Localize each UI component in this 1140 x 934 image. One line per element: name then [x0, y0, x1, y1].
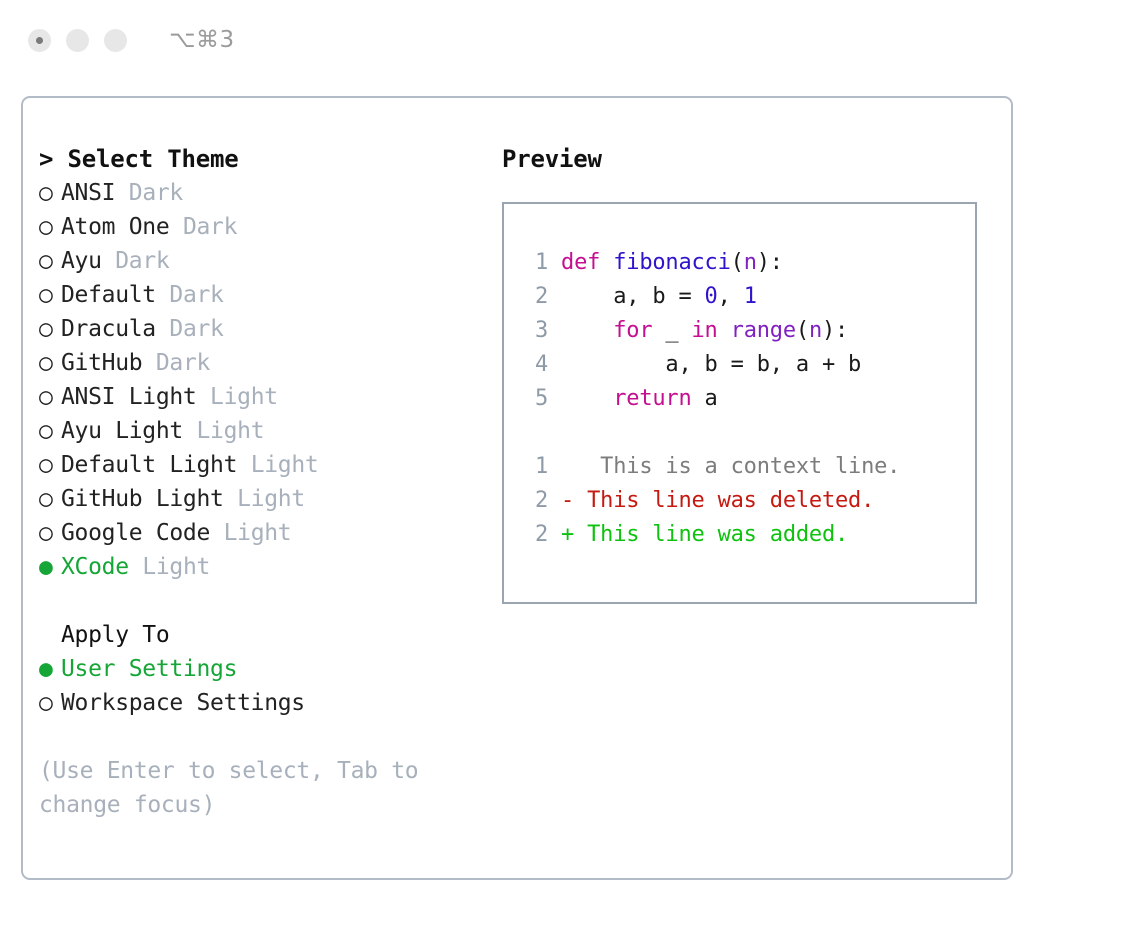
code-token: , — [718, 284, 744, 309]
theme-variant-tag: Light — [142, 554, 210, 580]
diff-sign — [561, 454, 574, 479]
line-number: 5 — [522, 382, 548, 416]
window-title: ⌥⌘3 — [169, 27, 235, 53]
theme-name: Ayu Light — [61, 418, 183, 444]
code-token: ): — [822, 318, 848, 343]
apply-to-header: Apply To — [39, 618, 489, 652]
code-token — [561, 318, 613, 343]
diff-line: 2 + This line was added. — [522, 518, 975, 552]
theme-option-row[interactable]: ●XCode Light — [39, 550, 489, 584]
apply-to-option-row[interactable]: ○Workspace Settings — [39, 686, 489, 720]
radio-unselected-icon[interactable]: ○ — [39, 414, 61, 448]
theme-variant-tag: Light — [197, 418, 265, 444]
theme-name: XCode — [61, 554, 129, 580]
line-number: 2 — [522, 518, 548, 552]
theme-variant-tag: Dark — [169, 316, 223, 342]
theme-name: Google Code — [61, 520, 210, 546]
theme-option-row[interactable]: ○GitHub Dark — [39, 346, 489, 380]
theme-variant-tag: Dark — [115, 248, 169, 274]
theme-list: ○ANSI Dark○Atom One Dark○Ayu Dark○Defaul… — [39, 176, 489, 584]
apply-to-list: ●User Settings○Workspace Settings — [39, 652, 489, 720]
code-token — [600, 250, 613, 275]
theme-name: Atom One — [61, 214, 169, 240]
theme-name: ANSI — [61, 180, 115, 206]
theme-variant-tag: Dark — [129, 180, 183, 206]
diff-text: This line was added. — [574, 522, 848, 547]
code-token: fibonacci — [613, 250, 730, 275]
line-number: 1 — [522, 450, 548, 484]
theme-variant-tag: Dark — [169, 282, 223, 308]
theme-variant-tag: Light — [210, 384, 278, 410]
theme-name: Dracula — [61, 316, 156, 342]
preview-title: Preview — [502, 142, 992, 176]
theme-name: GitHub Light — [61, 486, 224, 512]
radio-unselected-icon[interactable]: ○ — [39, 482, 61, 516]
code-line: 1 def fibonacci(n): — [522, 246, 975, 280]
theme-option-row[interactable]: ○Default Dark — [39, 278, 489, 312]
minimize-button-icon[interactable] — [66, 29, 89, 52]
code-token: a, b = — [561, 284, 705, 309]
radio-unselected-icon[interactable]: ○ — [39, 312, 61, 346]
theme-variant-tag: Dark — [183, 214, 237, 240]
code-token: for — [613, 318, 652, 343]
radio-selected-icon[interactable]: ● — [39, 550, 61, 584]
code-token: return — [613, 386, 691, 411]
radio-selected-icon[interactable]: ● — [39, 652, 61, 686]
prompt-marker: > — [39, 145, 53, 173]
theme-option-row[interactable]: ○ANSI Light Light — [39, 380, 489, 414]
code-token: a, b = b, a + b — [561, 352, 861, 377]
code-token: ( — [731, 250, 744, 275]
theme-option-row[interactable]: ○GitHub Light Light — [39, 482, 489, 516]
code-line: 2 a, b = 0, 1 — [522, 280, 975, 314]
code-token: n — [809, 318, 822, 343]
radio-unselected-icon[interactable]: ○ — [39, 686, 61, 720]
theme-option-row[interactable]: ○Google Code Light — [39, 516, 489, 550]
theme-option-row[interactable]: ○Default Light Light — [39, 448, 489, 482]
code-line: 5 return a — [522, 382, 975, 416]
line-number: 4 — [522, 348, 548, 382]
keyboard-hint: (Use Enter to select, Tab to change focu… — [39, 754, 439, 822]
theme-option-row[interactable]: ○Atom One Dark — [39, 210, 489, 244]
code-token: 0 — [705, 284, 718, 309]
diff-sample: 1 This is a context line.2 - This line w… — [522, 450, 975, 552]
code-sample: 1 def fibonacci(n):2 a, b = 0, 13 for _ … — [522, 246, 975, 416]
theme-name: Default Light — [61, 452, 237, 478]
code-token: 1 — [744, 284, 757, 309]
apply-to-label: Workspace Settings — [61, 690, 305, 716]
theme-name: ANSI Light — [61, 384, 196, 410]
theme-name: Default — [61, 282, 156, 308]
main-panel: > Select Theme ○ANSI Dark○Atom One Dark○… — [21, 96, 1013, 880]
theme-option-row[interactable]: ○ANSI Dark — [39, 176, 489, 210]
preview-pane: Preview 1 def fibonacci(n):2 a, b = 0, 1… — [502, 142, 992, 604]
theme-selector-pane: > Select Theme ○ANSI Dark○Atom One Dark○… — [39, 142, 489, 822]
apply-to-label: User Settings — [61, 656, 237, 682]
line-number: 2 — [522, 280, 548, 314]
radio-unselected-icon[interactable]: ○ — [39, 176, 61, 210]
theme-option-row[interactable]: ○Ayu Light Light — [39, 414, 489, 448]
diff-line: 2 - This line was deleted. — [522, 484, 975, 518]
code-token: ( — [796, 318, 809, 343]
close-dot — [36, 37, 43, 44]
code-token: in — [692, 318, 718, 343]
preview-box: 1 def fibonacci(n):2 a, b = 0, 13 for _ … — [502, 202, 977, 604]
line-number: 2 — [522, 484, 548, 518]
theme-name: Ayu — [61, 248, 102, 274]
code-token: def — [561, 250, 600, 275]
app-window: ⌥⌘3 > Select Theme ○ANSI Dark○Atom One D… — [0, 0, 1140, 934]
theme-option-row[interactable]: ○Dracula Dark — [39, 312, 489, 346]
diff-sign: - — [561, 488, 574, 513]
title-bar: ⌥⌘3 — [0, 0, 1140, 80]
diff-sign: + — [561, 522, 574, 547]
radio-unselected-icon[interactable]: ○ — [39, 278, 61, 312]
line-number: 3 — [522, 314, 548, 348]
select-theme-header: > Select Theme — [39, 142, 489, 176]
apply-to-option-row[interactable]: ●User Settings — [39, 652, 489, 686]
window-controls — [28, 29, 127, 52]
select-theme-label: Select Theme — [68, 145, 239, 173]
zoom-button-icon[interactable] — [104, 29, 127, 52]
radio-unselected-icon[interactable]: ○ — [39, 210, 61, 244]
theme-variant-tag: Light — [237, 486, 305, 512]
diff-text: This line was deleted. — [574, 488, 874, 513]
radio-unselected-icon[interactable]: ○ — [39, 380, 61, 414]
theme-option-row[interactable]: ○Ayu Dark — [39, 244, 489, 278]
code-line: 4 a, b = b, a + b — [522, 348, 975, 382]
code-diff-separator — [522, 416, 975, 450]
radio-unselected-icon[interactable]: ○ — [39, 516, 61, 550]
theme-variant-tag: Light — [224, 520, 292, 546]
code-token: _ — [652, 318, 691, 343]
theme-variant-tag: Dark — [156, 350, 210, 376]
code-token — [718, 318, 731, 343]
code-token: ): — [757, 250, 783, 275]
theme-variant-tag: Light — [251, 452, 319, 478]
radio-unselected-icon[interactable]: ○ — [39, 244, 61, 278]
line-number: 1 — [522, 246, 548, 280]
close-button-icon[interactable] — [28, 29, 51, 52]
radio-unselected-icon[interactable]: ○ — [39, 448, 61, 482]
code-token — [561, 386, 613, 411]
radio-unselected-icon[interactable]: ○ — [39, 346, 61, 380]
diff-text: This is a context line. — [574, 454, 900, 479]
theme-name: GitHub — [61, 350, 142, 376]
diff-line: 1 This is a context line. — [522, 450, 975, 484]
code-token: range — [731, 318, 796, 343]
code-token: a — [692, 386, 718, 411]
code-token: n — [744, 250, 757, 275]
code-line: 3 for _ in range(n): — [522, 314, 975, 348]
list-spacer — [39, 584, 489, 618]
